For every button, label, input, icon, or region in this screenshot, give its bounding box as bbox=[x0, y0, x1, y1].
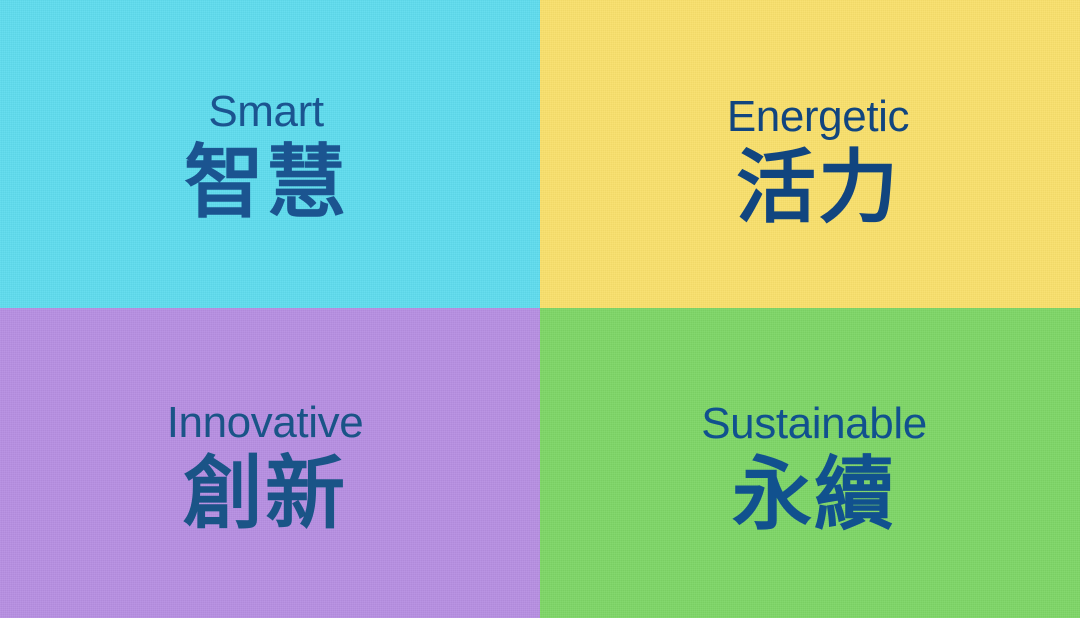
word-zh-smart: 智慧 bbox=[184, 138, 348, 228]
label-stack-smart: Smart 智慧 bbox=[184, 89, 348, 227]
word-en-sustainable: Sustainable bbox=[701, 401, 927, 448]
word-zh-energetic: 活力 bbox=[736, 143, 900, 233]
quadrant-sustainable: Sustainable 永續 bbox=[540, 308, 1080, 618]
label-stack-innovative: Innovative 創新 bbox=[167, 400, 364, 538]
brand-attributes-poster: Smart 智慧 Energetic 活力 Innovative 創新 Sust… bbox=[0, 0, 1080, 618]
word-en-energetic: Energetic bbox=[727, 94, 909, 141]
word-zh-sustainable: 永續 bbox=[732, 450, 896, 540]
quadrant-innovative: Innovative 創新 bbox=[0, 308, 540, 618]
label-stack-energetic: Energetic 活力 bbox=[727, 94, 909, 232]
quadrant-energetic: Energetic 活力 bbox=[540, 0, 1080, 308]
label-stack-sustainable: Sustainable 永續 bbox=[701, 401, 927, 539]
word-en-innovative: Innovative bbox=[167, 400, 364, 447]
word-zh-innovative: 創新 bbox=[183, 449, 347, 539]
quadrant-smart: Smart 智慧 bbox=[0, 0, 540, 308]
word-en-smart: Smart bbox=[208, 89, 323, 136]
